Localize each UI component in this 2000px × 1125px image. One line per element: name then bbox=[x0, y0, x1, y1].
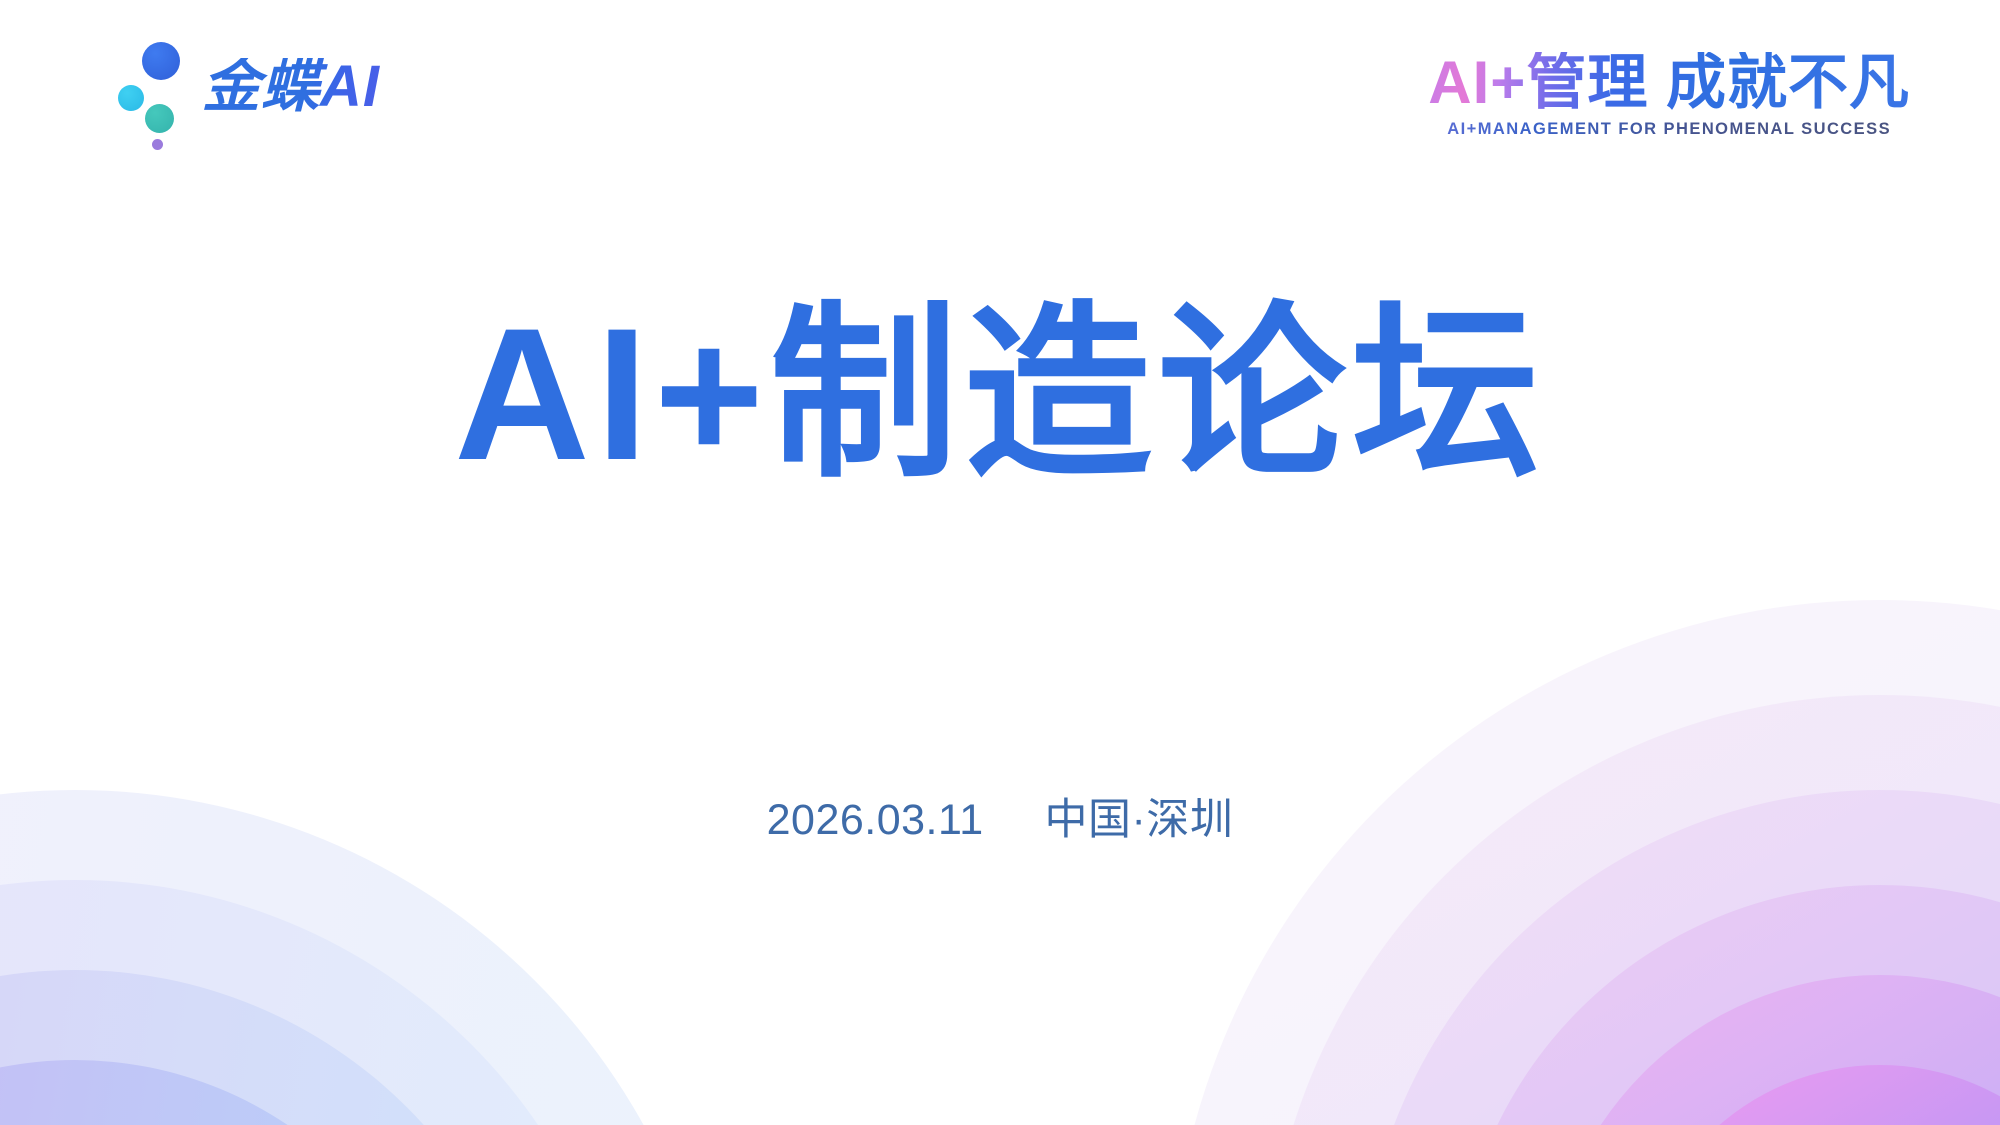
slogan-main-text: AI+管理 成就不凡 bbox=[1428, 52, 1910, 113]
brand-logo: 金蝶AI bbox=[112, 38, 380, 136]
dot-blue-icon bbox=[142, 42, 180, 80]
event-meta: 2026.03.11 中国·深圳 bbox=[0, 785, 2000, 847]
arc-ring-left-3 bbox=[0, 1060, 455, 1125]
slogan-sub-text: AI+MANAGEMENT FOR PHENOMENAL SUCCESS bbox=[1428, 120, 1910, 139]
dot-purple-icon bbox=[152, 139, 163, 150]
arc-ring-left-1 bbox=[0, 880, 635, 1125]
arc-ring-right-1 bbox=[1265, 695, 2000, 1125]
slide-canvas: 金蝶AI AI+管理 成就不凡 AI+MANAGEMENT FOR PHENOM… bbox=[0, 0, 2000, 1125]
arc-ring-right-0 bbox=[1170, 600, 2000, 1125]
arc-ring-right-5 bbox=[1635, 1065, 2000, 1125]
page-title: AI+制造论坛 bbox=[0, 300, 2000, 488]
arc-ring-left-2 bbox=[0, 970, 545, 1125]
campaign-slogan: AI+管理 成就不凡 AI+MANAGEMENT FOR PHENOMENAL … bbox=[1428, 52, 1910, 139]
event-location: 中国·深圳 bbox=[1045, 785, 1234, 847]
dot-teal-icon bbox=[145, 104, 174, 133]
kingdee-dots-icon bbox=[112, 38, 188, 136]
slide-header: 金蝶AI AI+管理 成就不凡 AI+MANAGEMENT FOR PHENOM… bbox=[0, 0, 2000, 190]
arc-ring-right-3 bbox=[1455, 885, 2000, 1125]
arc-ring-right-4 bbox=[1545, 975, 2000, 1125]
title-block: AI+制造论坛 bbox=[0, 300, 2000, 488]
brand-wordmark: 金蝶AI bbox=[202, 58, 380, 116]
event-date: 2026.03.11 bbox=[767, 796, 984, 845]
dot-cyan-icon bbox=[118, 85, 144, 111]
